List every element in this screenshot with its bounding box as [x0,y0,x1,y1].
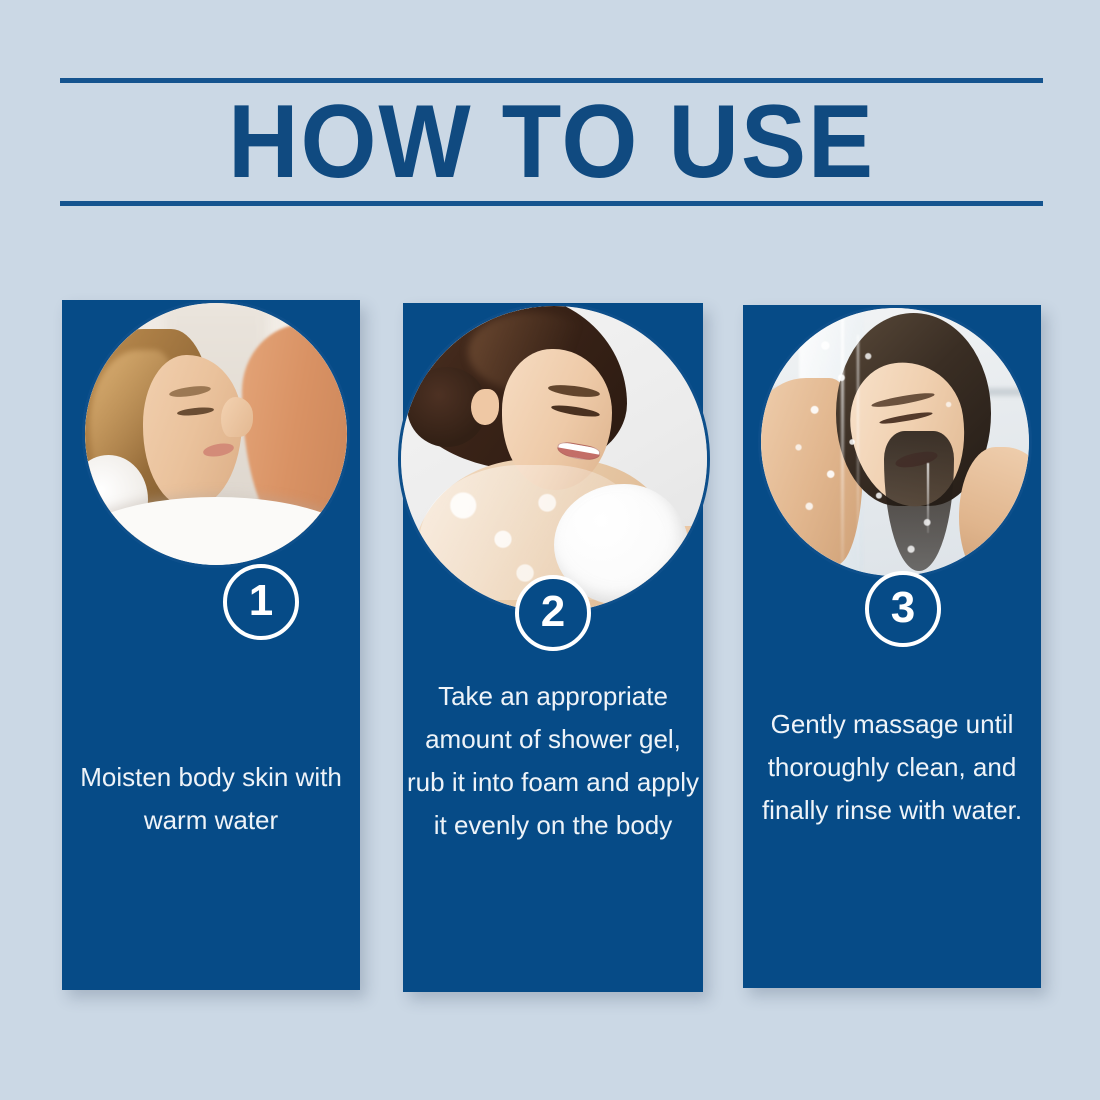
woman-in-bathtub-photo [85,303,347,565]
step-3-number-badge: 3 [865,571,941,647]
woman-rinsing-in-shower-photo [761,308,1029,576]
step-1-number: 1 [249,579,273,623]
header-rule-bottom [60,201,1043,206]
step-1-photo [82,300,350,568]
step-card-2: 2 Take an appropriate amount of shower g… [403,303,703,992]
step-1-caption: Moisten body skin with warm water [70,756,352,842]
step-3-caption: Gently massage until thoroughly clean, a… [749,703,1035,832]
step-card-1: 1 Moisten body skin with warm water [62,300,360,990]
step-2-number-badge: 2 [515,575,591,651]
step-3-number: 3 [891,586,915,630]
header: HOW TO USE [60,78,1043,206]
step-1-number-badge: 1 [223,564,299,640]
step-card-3: 3 Gently massage until thoroughly clean,… [743,305,1041,988]
woman-applying-foam-photo [401,306,707,612]
step-3-photo [758,305,1032,579]
step-2-photo [398,303,710,615]
page-title: HOW TO USE [89,90,1013,194]
step-2-number: 2 [541,590,565,634]
step-2-caption: Take an appropriate amount of shower gel… [407,675,699,847]
header-rule-top [60,78,1043,83]
